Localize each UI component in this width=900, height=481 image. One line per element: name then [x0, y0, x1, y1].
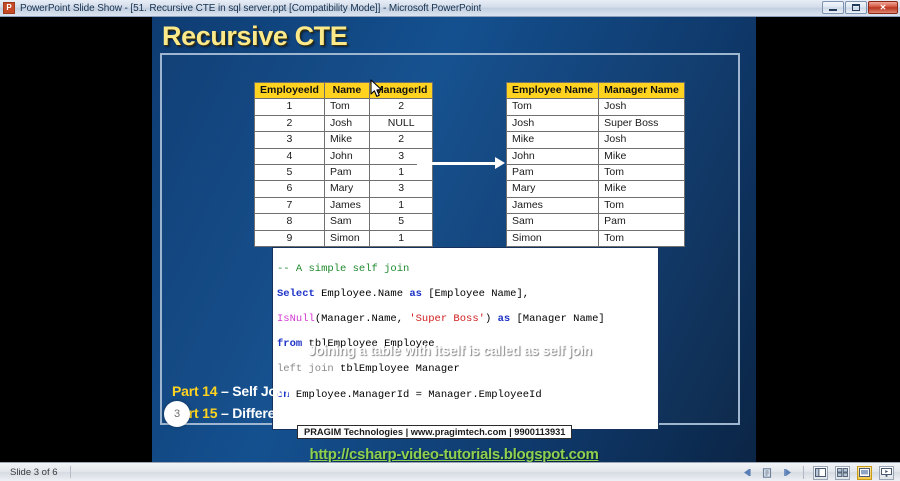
cell-employeeid: 1 [255, 99, 325, 115]
code-line: IsNull(Manager.Name, 'Super Boss') as [M… [277, 313, 654, 326]
cell-name: Josh [324, 115, 369, 131]
slide-sorter-icon[interactable] [835, 466, 850, 480]
cell-employee-name: James [507, 197, 599, 213]
table-row: PamTom [507, 165, 685, 181]
cell-managerid: 1 [369, 197, 433, 213]
blog-url-link[interactable]: http://csharp-video-tutorials.blogspot.c… [152, 446, 756, 462]
part-reference-list: Part 14 – Self Join Part 15 – Different … [172, 380, 479, 424]
slide-count-label: Slide 3 of 6 [0, 467, 58, 478]
table-row: 3Mike2 [255, 132, 433, 148]
cell-managerid: 2 [369, 132, 433, 148]
cell-employee-name: Sam [507, 214, 599, 230]
slide-canvas: Recursive CTE EmployeeId Name ManagerId … [152, 17, 756, 462]
cell-employeeid: 7 [255, 197, 325, 213]
table-row: 9Simon1 [255, 230, 433, 246]
cell-manager-name: Super Boss [599, 115, 685, 131]
cell-employee-name: Tom [507, 99, 599, 115]
company-footer-badge: PRAGIM Technologies | www.pragimtech.com… [297, 425, 572, 439]
cell-name: James [324, 197, 369, 213]
cell-employeeid: 4 [255, 148, 325, 164]
slideshow-viewport[interactable]: Recursive CTE EmployeeId Name ManagerId … [0, 17, 900, 462]
cell-employee-name: Josh [507, 115, 599, 131]
employee-result-table: Employee Name Manager Name TomJosh JoshS… [506, 82, 685, 247]
window-title: PowerPoint Slide Show - [51. Recursive C… [20, 3, 481, 14]
cell-name: Mary [324, 181, 369, 197]
table-row: SimonTom [507, 230, 685, 246]
table-row: JoshSuper Boss [507, 115, 685, 131]
normal-view-icon[interactable] [813, 466, 828, 480]
prev-slide-icon[interactable] [741, 466, 754, 479]
cell-employee-name: John [507, 148, 599, 164]
code-line: left join tblEmployee Manager [277, 363, 654, 376]
cell-manager-name: Tom [599, 230, 685, 246]
employee-source-table: EmployeeId Name ManagerId 1Tom2 2JoshNUL… [254, 82, 433, 247]
table-row: SamPam [507, 214, 685, 230]
cell-name: Simon [324, 230, 369, 246]
table-row: 6Mary3 [255, 181, 433, 197]
cell-manager-name: Mike [599, 148, 685, 164]
cell-employee-name: Pam [507, 165, 599, 181]
cell-name: Sam [324, 214, 369, 230]
cell-employee-name: Mike [507, 132, 599, 148]
column-header-name: Name [324, 83, 369, 99]
list-item: Part 14 – Self Join [172, 380, 479, 402]
cell-managerid: 2 [369, 99, 433, 115]
cell-name: Mike [324, 132, 369, 148]
close-button[interactable]: ✕ [868, 1, 898, 14]
table-row: 8Sam5 [255, 214, 433, 230]
status-bar-right [741, 463, 894, 481]
column-header-employee-name: Employee Name [507, 83, 599, 99]
table-header-row: Employee Name Manager Name [507, 83, 685, 99]
table-row: 7James1 [255, 197, 433, 213]
cell-manager-name: Mike [599, 181, 685, 197]
cell-employee-name: Mary [507, 181, 599, 197]
next-slide-icon[interactable] [781, 466, 794, 479]
column-header-manager-name: Manager Name [599, 83, 685, 99]
code-comment: -- A simple self join [277, 263, 409, 275]
cell-managerid: 1 [369, 230, 433, 246]
restore-button[interactable] [845, 1, 867, 14]
self-join-caption: Joining a table with itself is called as… [162, 343, 738, 358]
cell-name: Tom [324, 99, 369, 115]
cell-employee-name: Simon [507, 230, 599, 246]
part-description: – Self Join [217, 383, 289, 399]
cell-employeeid: 6 [255, 181, 325, 197]
cell-managerid: NULL [369, 115, 433, 131]
table-header-row: EmployeeId Name ManagerId [255, 83, 433, 99]
part-description: – Different ways to replace NULL values [217, 405, 479, 421]
cell-name: Pam [324, 165, 369, 181]
flow-arrow-icon [417, 157, 507, 169]
list-item: Part 15 – Different ways to replace NULL… [172, 402, 479, 424]
cell-managerid: 3 [369, 181, 433, 197]
code-line: Select Employee.Name as [Employee Name], [277, 288, 654, 301]
window-controls: ✕ [822, 1, 898, 14]
slide-number-badge: 3 [164, 401, 190, 427]
slide-content-frame: EmployeeId Name ManagerId 1Tom2 2JoshNUL… [160, 53, 740, 425]
cell-employeeid: 9 [255, 230, 325, 246]
powerpoint-icon: P [3, 2, 15, 14]
code-line: -- A simple self join [277, 263, 654, 276]
powerpoint-slideshow-window: P PowerPoint Slide Show - [51. Recursive… [0, 0, 900, 481]
status-divider [803, 466, 804, 479]
status-divider [70, 466, 71, 478]
cell-manager-name: Tom [599, 165, 685, 181]
cell-name: John [324, 148, 369, 164]
table-row: JamesTom [507, 197, 685, 213]
window-title-bar: P PowerPoint Slide Show - [51. Recursive… [0, 0, 900, 17]
slide-show-icon[interactable] [879, 466, 894, 480]
reading-view-icon[interactable] [857, 466, 872, 480]
slide-menu-icon[interactable] [761, 466, 774, 479]
cell-employeeid: 5 [255, 165, 325, 181]
table-row: JohnMike [507, 148, 685, 164]
column-header-managerid: ManagerId [369, 83, 433, 99]
table-row: 5Pam1 [255, 165, 433, 181]
table-row: TomJosh [507, 99, 685, 115]
table-row: 4John3 [255, 148, 433, 164]
minimize-button[interactable] [822, 1, 844, 14]
cell-managerid: 5 [369, 214, 433, 230]
cell-manager-name: Tom [599, 197, 685, 213]
cell-employeeid: 8 [255, 214, 325, 230]
status-bar: Slide 3 of 6 [0, 462, 900, 481]
table-row: MaryMike [507, 181, 685, 197]
part-label: Part 14 [172, 383, 217, 399]
cell-manager-name: Pam [599, 214, 685, 230]
cell-employeeid: 3 [255, 132, 325, 148]
column-header-employeeid: EmployeeId [255, 83, 325, 99]
table-row: MikeJosh [507, 132, 685, 148]
table-row: 1Tom2 [255, 99, 433, 115]
slide-title: Recursive CTE [162, 21, 347, 52]
cell-manager-name: Josh [599, 99, 685, 115]
cell-manager-name: Josh [599, 132, 685, 148]
table-row: 2JoshNULL [255, 115, 433, 131]
cell-employeeid: 2 [255, 115, 325, 131]
